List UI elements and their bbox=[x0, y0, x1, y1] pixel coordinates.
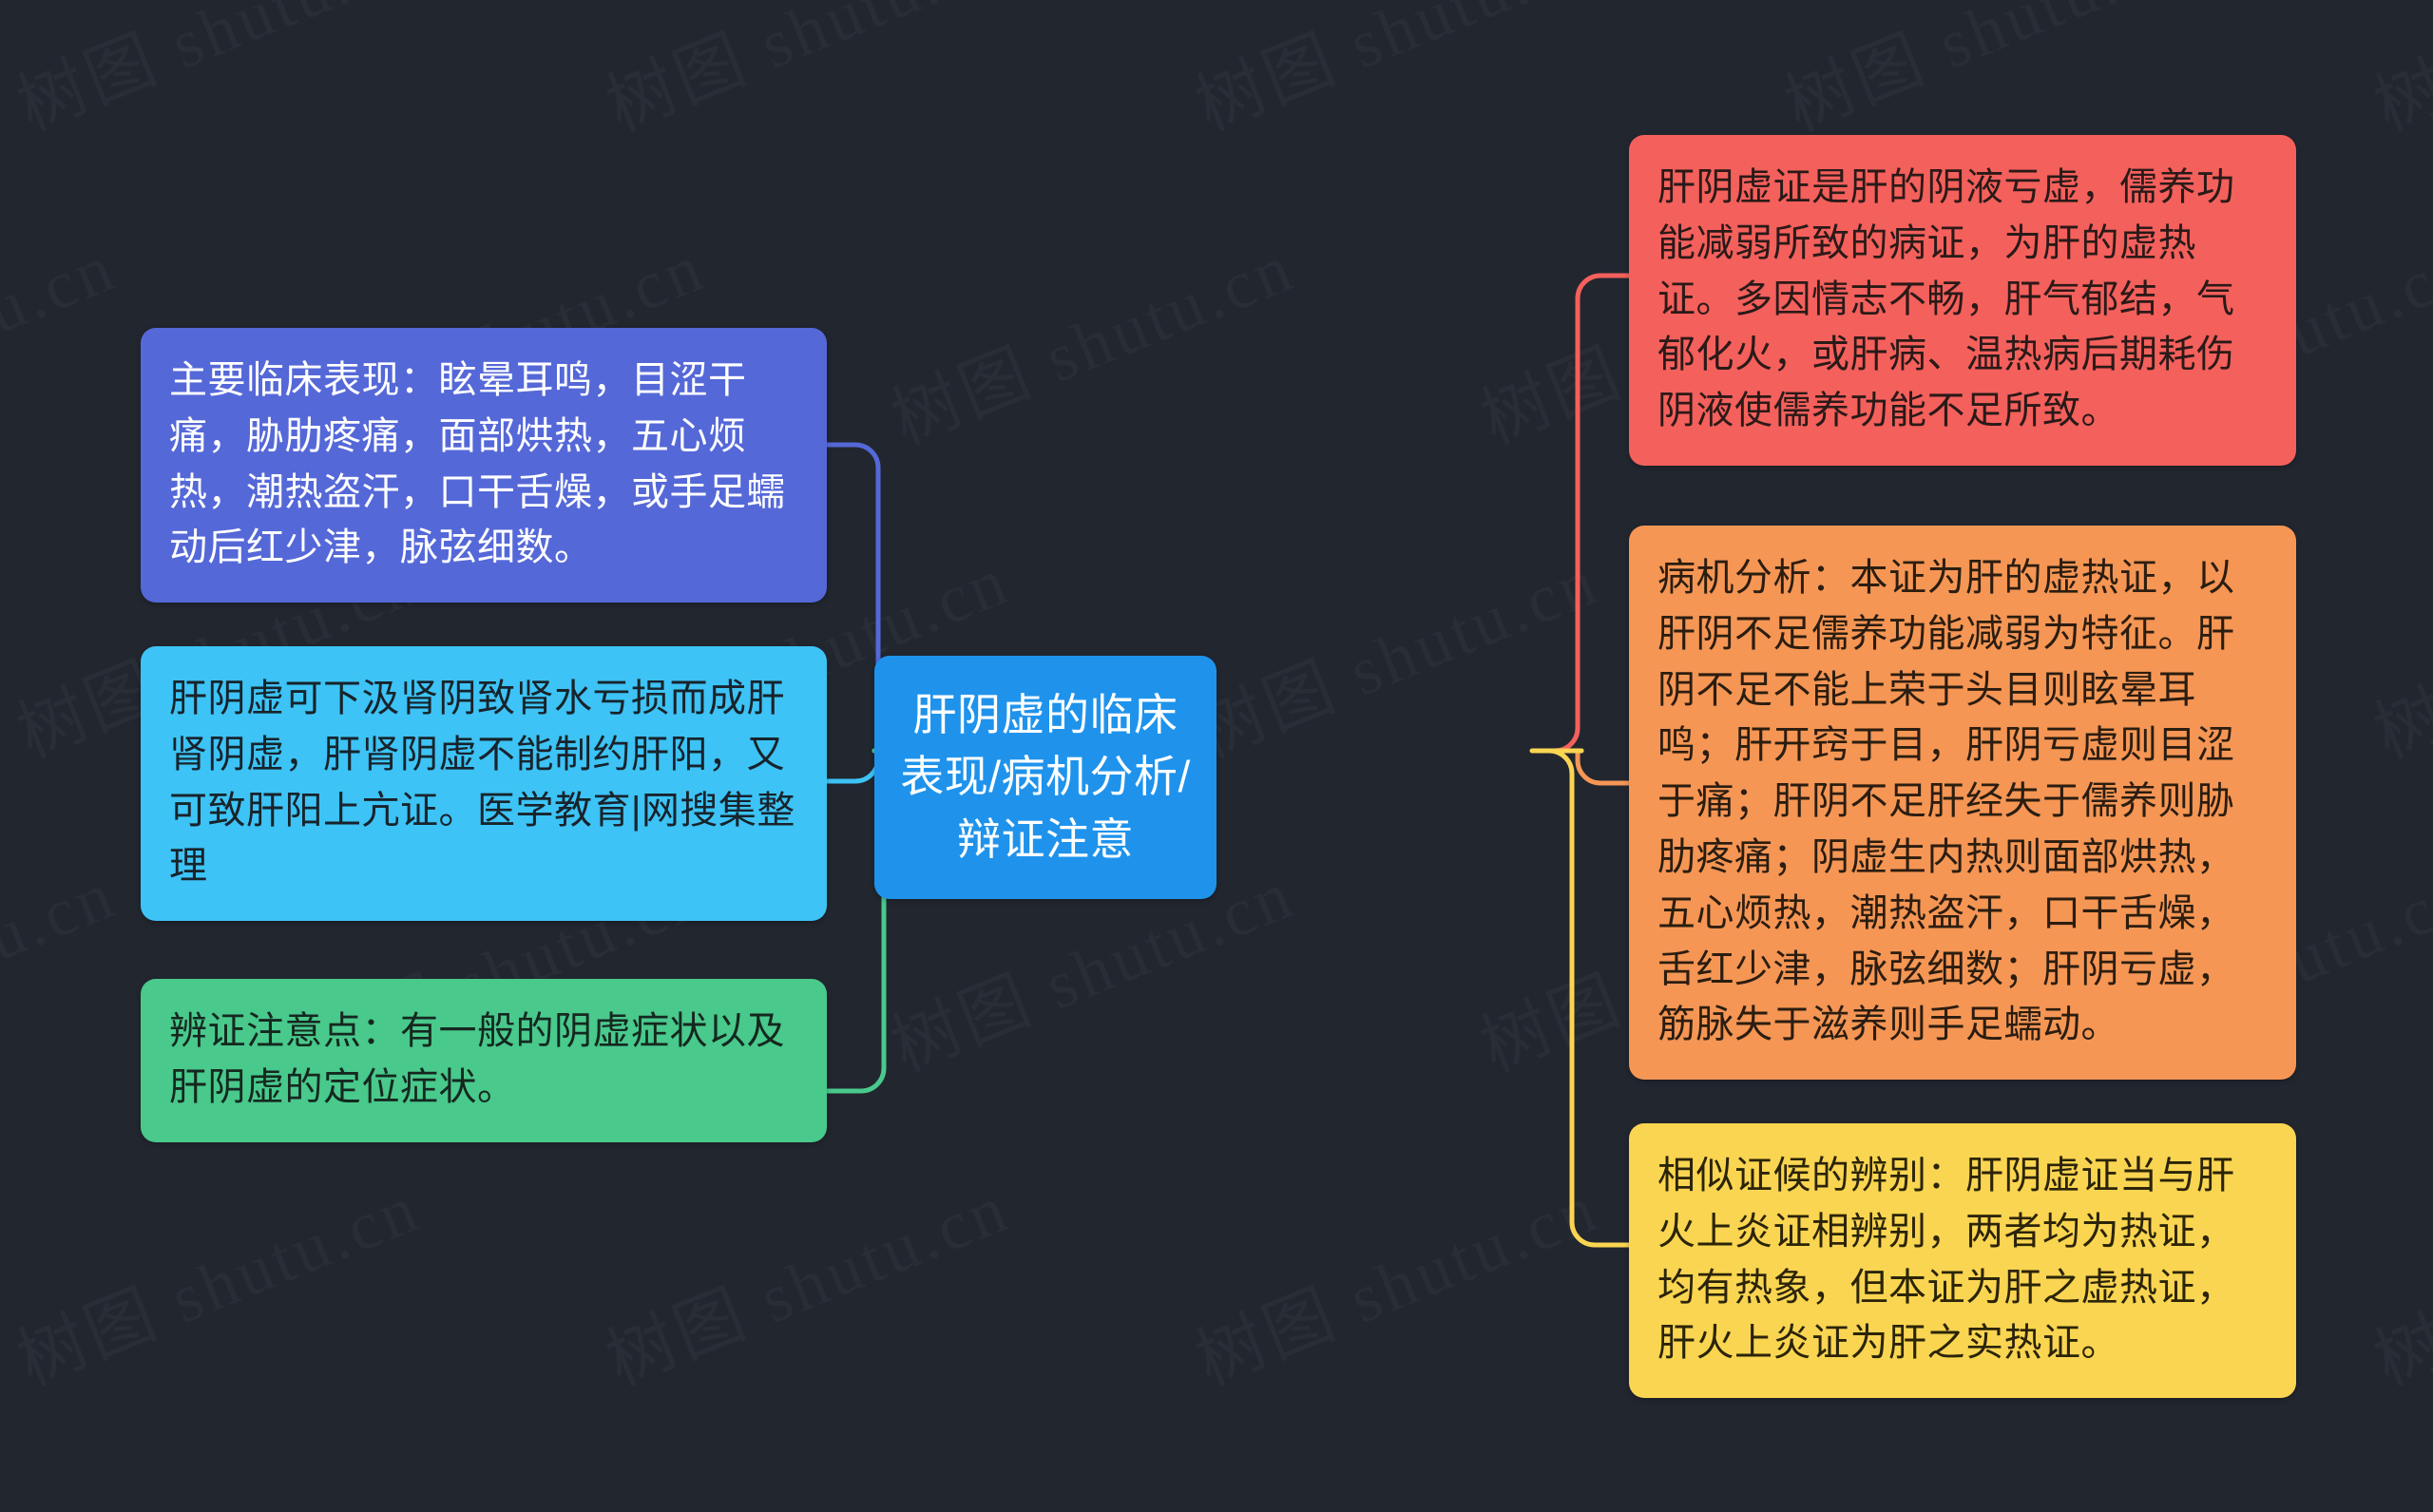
watermark-text: 树图 shutu.cn bbox=[285, 1465, 718, 1512]
branch-node-differentiation-caution[interactable]: 辨证注意点：有一般的阴虚症状以及肝阴虚的定位症状。 bbox=[141, 979, 827, 1142]
connector-mechanism bbox=[1578, 751, 1629, 783]
watermark-text: 树图 shutu.cn bbox=[874, 1465, 1307, 1512]
branch-node-pathogenesis-analysis[interactable]: 病机分析：本证为肝的虚热证，以肝阴不足儒养功能减弱为特征。肝阴不足不能上荣于头目… bbox=[1629, 526, 2296, 1080]
watermark-text: 树图 shutu.cn bbox=[1178, 525, 1611, 776]
branch-node-clinical-manifestations[interactable]: 主要临床表现：眩晕耳鸣，目涩干痛，胁肋疼痛，面部烘热，五心烦热，潮热盗汗，口干舌… bbox=[141, 328, 827, 603]
connector-similar bbox=[1549, 751, 1629, 1245]
watermark-text: 树图 shutu.cn bbox=[1464, 1465, 1896, 1512]
connector-kidney bbox=[827, 751, 878, 781]
watermark-text: 树图 shutu.cn bbox=[2357, 525, 2433, 776]
watermark-text: 树图 shutu.cn bbox=[0, 838, 128, 1090]
watermark-text: 树图 shutu.cn bbox=[589, 0, 1022, 149]
watermark-text: 树图 shutu.cn bbox=[1178, 1152, 1611, 1404]
watermark-text: 树图 shutu.cn bbox=[0, 1152, 432, 1404]
watermark-text: 树图 shutu.cn bbox=[0, 211, 128, 463]
branch-node-liver-kidney-yin-deficiency[interactable]: 肝阴虚可下汲肾阴致肾水亏损而成肝肾阴虚，肝肾阴虚不能制约肝阳，又可致肝阳上亢证。… bbox=[141, 646, 827, 921]
watermark-text: 树图 shutu.cn bbox=[2053, 1465, 2433, 1512]
watermark-text: 树图 shutu.cn bbox=[0, 1465, 128, 1512]
watermark-text: 树图 shutu.cn bbox=[589, 1152, 1022, 1404]
connector-define bbox=[1555, 276, 1629, 751]
watermark-text: 树图 shutu.cn bbox=[1178, 0, 1611, 149]
root-node[interactable]: 肝阴虚的临床表现/病机分析/辩证注意 bbox=[874, 656, 1216, 899]
watermark-text: 树图 shutu.cn bbox=[2357, 1152, 2433, 1404]
watermark-text: 树图 shutu.cn bbox=[2357, 0, 2433, 149]
watermark-text: 树图 shutu.cn bbox=[1768, 0, 2200, 149]
watermark-text: 树图 shutu.cn bbox=[874, 211, 1307, 463]
branch-node-similar-syndrome-differentiation[interactable]: 相似证候的辨别：肝阴虚证当与肝火上炎证相辨别，两者均为热证，均有热象，但本证为肝… bbox=[1629, 1123, 2296, 1398]
watermark-text: 树图 shutu.cn bbox=[0, 0, 432, 149]
branch-node-definition[interactable]: 肝阴虚证是肝的阴液亏虚，儒养功能减弱所致的病证，为肝的虚热证。多因情志不畅，肝气… bbox=[1629, 135, 2296, 466]
